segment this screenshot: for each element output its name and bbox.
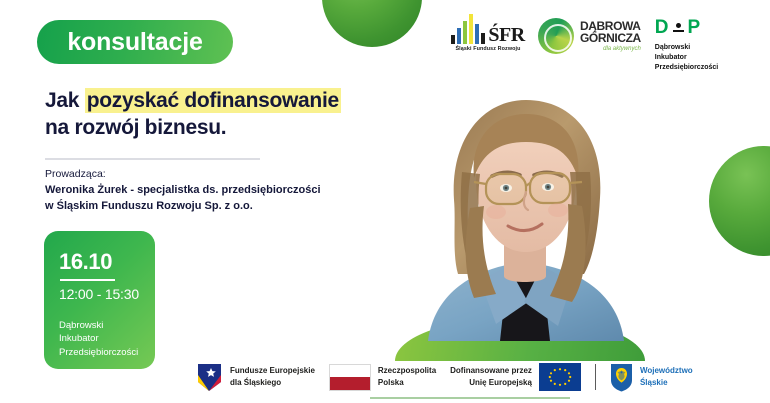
dabrowa-gornicza-logo-wordmark: DĄBROWA GÓRNICZA dla aktywnych <box>580 20 641 52</box>
sfr-logo-acronym: ŚFR <box>488 26 524 44</box>
silesian-eagle-crest-icon <box>610 363 633 392</box>
speaker-role-label: Prowadząca: <box>45 167 385 183</box>
headline-prefix: Jak <box>45 89 85 112</box>
voiv-line-2: Śląskie <box>640 377 693 389</box>
eu-line-2: Unię Europejską <box>450 377 532 389</box>
event-venue: Dąbrowski Inkubator Przedsiębiorczości <box>59 319 155 359</box>
venue-line-3: Przedsiębiorczości <box>59 346 155 359</box>
sfr-logo-mark <box>451 14 485 44</box>
funding-bar-divider <box>595 364 596 390</box>
section-divider <box>45 158 260 160</box>
headline-line2: na rozwój biznesu. <box>45 116 226 139</box>
dabrowa-gornicza-logo-mark <box>538 18 574 54</box>
dip-logo-caption: Dąbrowski Inkubator Przedsiębiorczości <box>655 43 718 73</box>
dip-mark-letter-p: P <box>688 18 701 37</box>
headline-highlight: pozyskać dofinansowanie <box>85 88 341 113</box>
event-date: 16.10 <box>59 249 155 275</box>
european-union-text: Dofinansowane przez Unię Europejską <box>450 365 532 388</box>
event-time: 12:00 - 15:30 <box>59 286 155 302</box>
konsultacje-badge: konsultacje <box>37 20 233 64</box>
rzeczpospolita-polska-text: Rzeczpospolita Polska <box>378 365 436 388</box>
green-sphere-right-decoration <box>709 146 770 256</box>
european-union-logo: Dofinansowane przez Unię Europejską <box>450 363 581 391</box>
eu-line-1: Dofinansowane przez <box>450 365 532 377</box>
date-underline-decoration <box>60 279 115 281</box>
fundusze-europejskie-logo: Fundusze Europejskie dla Śląskiego <box>196 362 315 392</box>
fe-line-2: dla Śląskiego <box>230 377 315 389</box>
poland-flag-icon <box>329 364 371 391</box>
fe-line-1: Fundusze Europejskie <box>230 365 315 377</box>
venue-line-1: Dąbrowski <box>59 319 155 332</box>
dip-caption-line-2: Inkubator <box>655 53 718 63</box>
dabrowa-gornicza-logo: DĄBROWA GÓRNICZA dla aktywnych <box>538 8 641 54</box>
eu-funding-logo-bar: Fundusze Europejskie dla Śląskiego Rzecz… <box>196 355 756 399</box>
pl-line-2: Polska <box>378 377 436 389</box>
page-title: Jak pozyskać dofinansowanie na rozwój bi… <box>45 88 405 142</box>
dip-mark-letter-d: D <box>655 18 669 37</box>
dip-logo: D P Dąbrowski Inkubator Przedsiębiorczoś… <box>655 8 718 73</box>
green-sphere-top-decoration <box>322 0 422 47</box>
european-union-flag-icon <box>539 363 581 391</box>
fundusze-europejskie-icon <box>196 362 223 392</box>
speaker-name-line1: Weronika Żurek - specjalistka ds. przeds… <box>45 183 385 199</box>
voiv-line-1: Województwo <box>640 365 693 377</box>
speaker-portrait-photo <box>400 88 650 341</box>
event-date-card: 16.10 12:00 - 15:30 Dąbrowski Inkubator … <box>44 231 155 369</box>
poster-canvas: konsultacje Jak pozyskać dofinansowanie … <box>0 0 770 403</box>
konsultacje-badge-label: konsultacje <box>67 28 202 57</box>
pl-line-1: Rzeczpospolita <box>378 365 436 377</box>
dip-logo-mark: D P <box>655 18 700 37</box>
wojewodztwo-slaskie-text: Województwo Śląskie <box>640 365 693 388</box>
partner-logo-row: ŚFR Śląski Fundusz Rozwoju DĄBROWA GÓRNI… <box>452 8 764 80</box>
dabrowa-line-2: GÓRNICZA <box>580 32 641 44</box>
dip-dot-icon <box>673 23 684 32</box>
sfr-logo-caption: Śląski Fundusz Rozwoju <box>455 46 520 52</box>
wojewodztwo-slaskie-logo: Województwo Śląskie <box>610 363 693 392</box>
sfr-logo: ŚFR Śląski Fundusz Rozwoju <box>452 8 524 52</box>
rzeczpospolita-polska-logo: Rzeczpospolita Polska <box>329 364 436 391</box>
dip-caption-line-3: Przedsiębiorczości <box>655 63 718 73</box>
venue-line-2: Inkubator <box>59 332 155 345</box>
speaker-name-line2: w Śląskim Funduszu Rozwoju Sp. z o.o. <box>45 199 385 215</box>
dabrowa-tagline: dla aktywnych <box>580 46 641 52</box>
fundusze-europejskie-text: Fundusze Europejskie dla Śląskiego <box>230 365 315 388</box>
dip-caption-line-1: Dąbrowski <box>655 43 718 53</box>
speaker-block: Prowadząca: Weronika Żurek - specjalistk… <box>45 167 385 215</box>
